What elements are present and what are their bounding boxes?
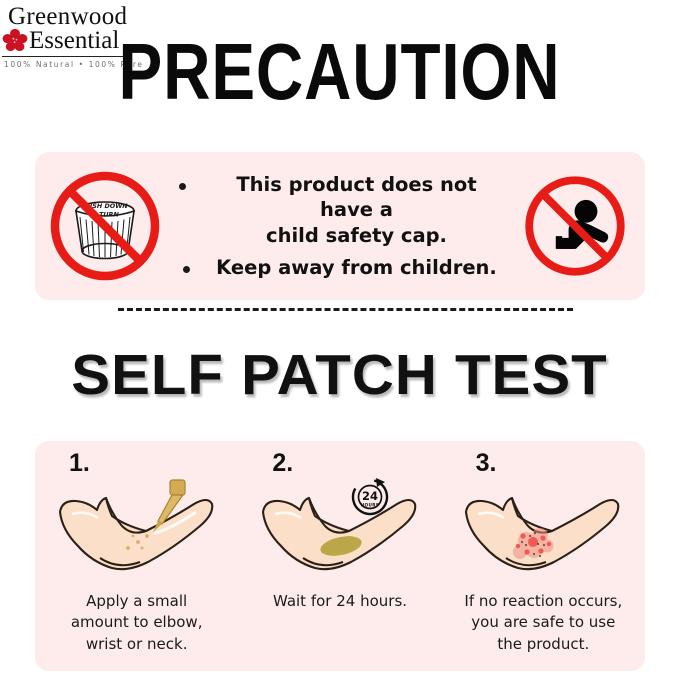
step-3-caption: If no reaction occurs, you are safe to u… [464, 591, 622, 655]
bullet-1-line-1: This product does not have a [236, 173, 476, 222]
bullet-1-line-2: child safety cap. [266, 224, 447, 247]
clock-value: 24 [362, 489, 378, 503]
step-1-caption-line-3: wrist or neck. [86, 635, 188, 653]
warning-panel: PUSH DOWN & TURN This product does not h… [35, 152, 645, 300]
step-3-caption-line-1: If no reaction occurs, [464, 592, 622, 610]
warning-bullet-1-text: This product does not have a child safet… [212, 172, 501, 249]
no-children-icon [505, 172, 645, 280]
step-1: 1. [35, 441, 238, 671]
flower-icon [2, 27, 28, 53]
step-1-caption-line-2: amount to elbow, [71, 613, 203, 631]
bullet-dot-icon [179, 183, 186, 190]
step-3: 3. [442, 441, 645, 671]
page-title-self-patch-test: SELF PATCH TEST [0, 347, 679, 404]
self-patch-test-steps: 1. [35, 441, 645, 671]
precaution-infographic: Greenwood [0, 0, 679, 679]
bullet-dot-icon [183, 266, 190, 273]
warning-bullet-2-text: Keep away from children. [216, 255, 497, 281]
elbow-with-dropper-icon [42, 474, 232, 579]
step-3-caption-line-3: the product. [497, 635, 589, 653]
warning-bullet-2: Keep away from children. [179, 255, 501, 281]
elbow-with-24-hour-clock-icon: 24 HOURS [245, 474, 435, 579]
warning-bullet-1: This product does not have a child safet… [179, 172, 501, 249]
page-title-precaution: PRECAUTION [61, 32, 618, 112]
brand-name-line1: Greenwood [2, 4, 130, 29]
elbow-with-rash-icon [448, 474, 638, 579]
step-2-caption: Wait for 24 hours. [273, 591, 407, 612]
no-child-safety-cap-icon: PUSH DOWN & TURN [35, 167, 175, 285]
dashed-divider [118, 308, 573, 311]
step-1-caption-line-1: Apply a small [86, 592, 187, 610]
step-3-caption-line-2: you are safe to use [471, 613, 615, 631]
clock-unit: HOURS [361, 503, 380, 508]
step-1-caption: Apply a small amount to elbow, wrist or … [71, 591, 203, 655]
step-2: 2. 24 HOURS [238, 441, 441, 671]
warning-bullet-list: This product does not have a child safet… [175, 172, 505, 281]
